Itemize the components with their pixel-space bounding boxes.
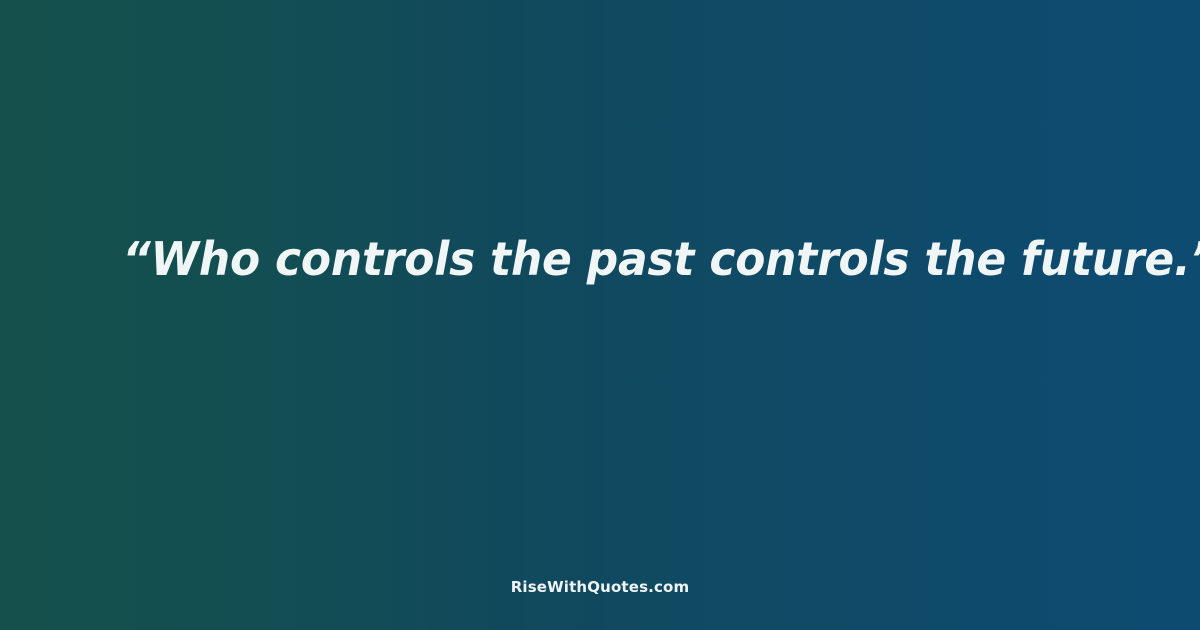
- quote-poster: “Who controls the past controls the futu…: [0, 0, 1200, 630]
- site-attribution: RiseWithQuotes.com: [511, 578, 690, 596]
- quote-container: “Who controls the past controls the futu…: [0, 0, 1200, 520]
- quote-text: “Who controls the past controls the futu…: [123, 231, 1078, 289]
- footer-container: RiseWithQuotes.com: [0, 578, 1200, 596]
